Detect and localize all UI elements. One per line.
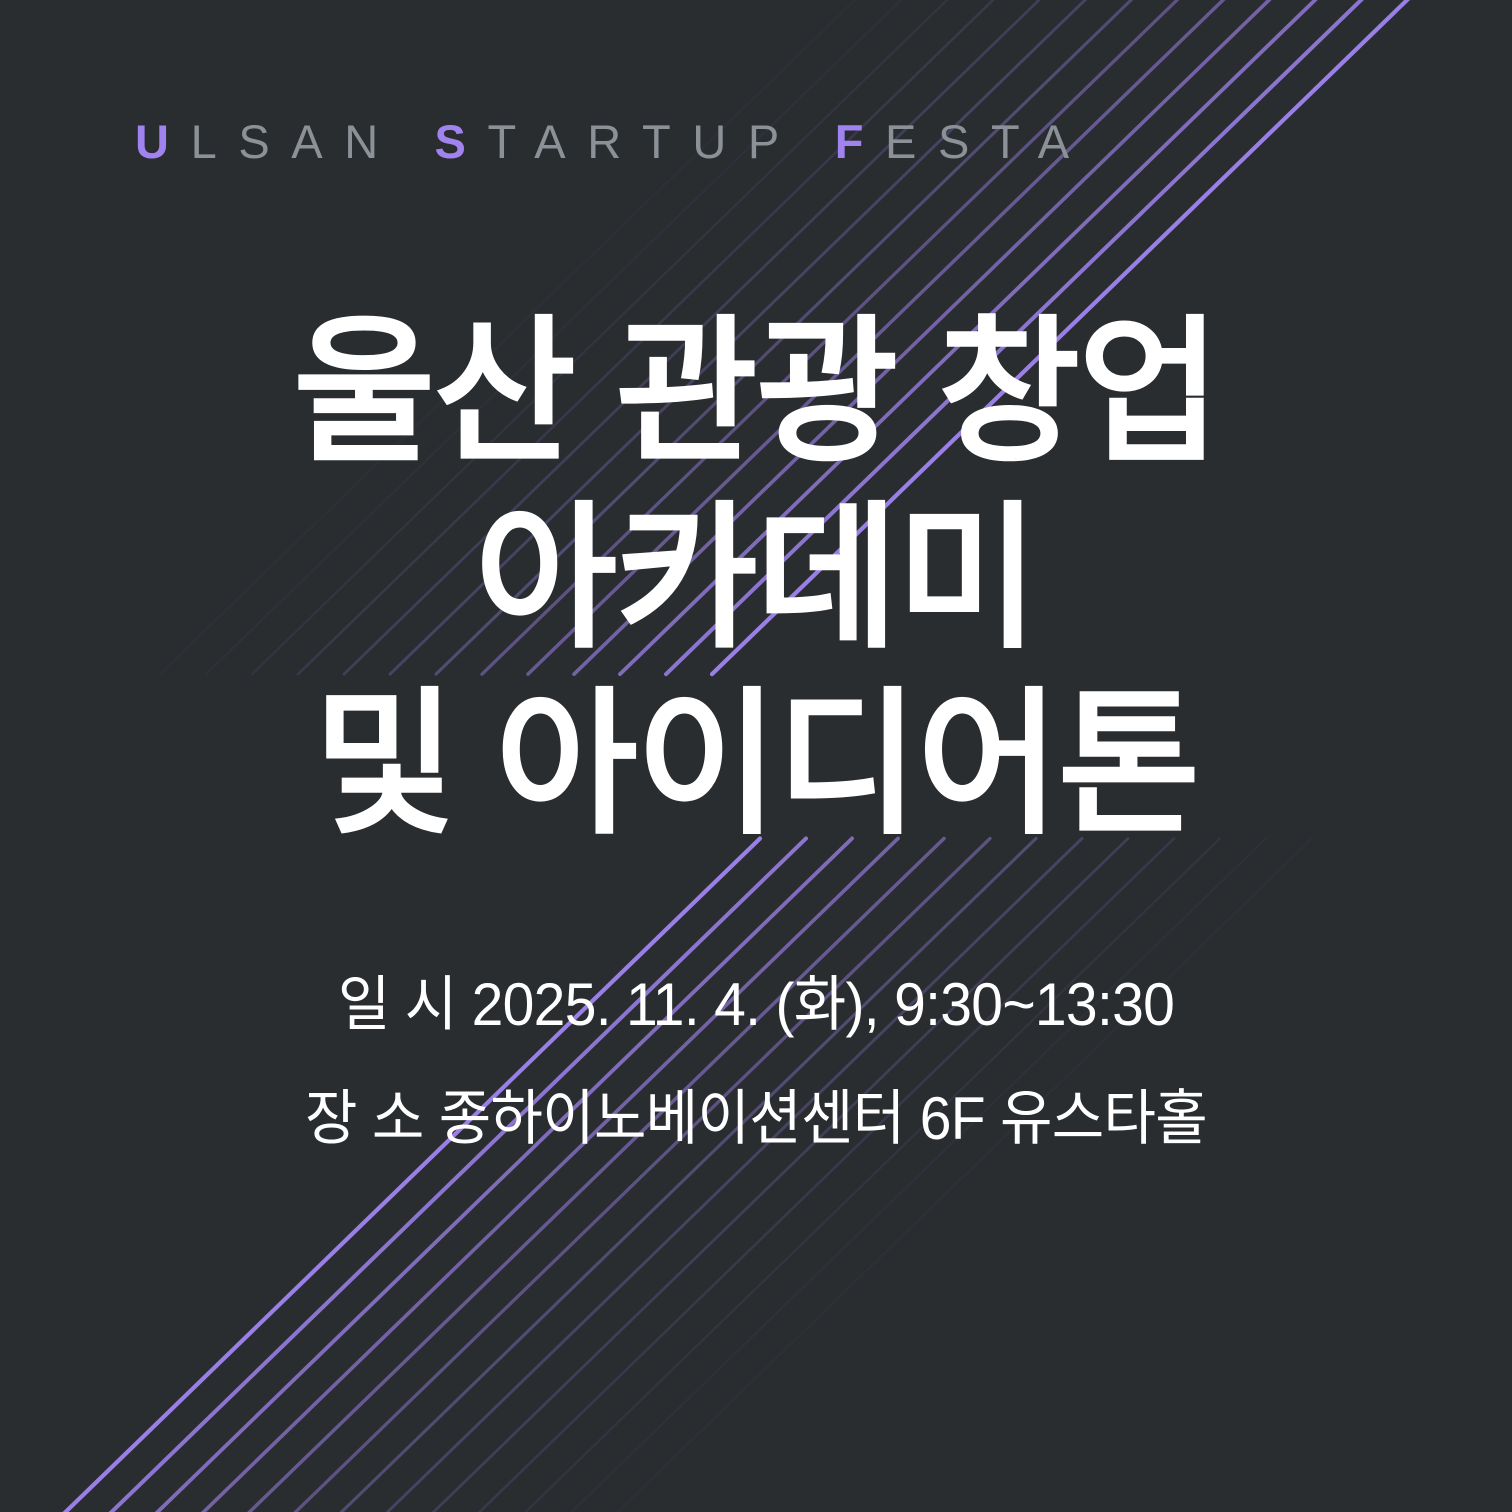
event-venue-line: 장 소 종하이노베이션센터 6F 유스타홀 bbox=[38, 1062, 1474, 1176]
event-name-header: ULSAN STARTUP FESTA bbox=[135, 118, 1385, 165]
event-name-festa-rest: ESTA bbox=[885, 115, 1091, 168]
title-line-2: 아카데미 bbox=[15, 486, 1497, 672]
event-name-ulsan-rest: LSAN bbox=[191, 115, 435, 168]
event-details: 일 시 2025. 11. 4. (화), 9:30~13:30 장 소 종하이… bbox=[0, 948, 1512, 1176]
event-name-s-accent: S bbox=[435, 115, 488, 168]
event-datetime-line: 일 시 2025. 11. 4. (화), 9:30~13:30 bbox=[38, 948, 1474, 1062]
event-name-u-accent: U bbox=[135, 115, 191, 168]
title-line-1: 울산 관광 창업 bbox=[15, 300, 1497, 486]
main-title: 울산 관광 창업 아카데미 및 아이디어톤 bbox=[0, 300, 1512, 858]
title-line-3: 및 아이디어톤 bbox=[15, 672, 1497, 858]
event-name-f-accent: F bbox=[835, 115, 885, 168]
event-name-startup-rest: TARTUP bbox=[487, 115, 834, 168]
poster-canvas: ULSAN STARTUP FESTA 울산 관광 창업 아카데미 및 아이디어… bbox=[0, 0, 1512, 1512]
